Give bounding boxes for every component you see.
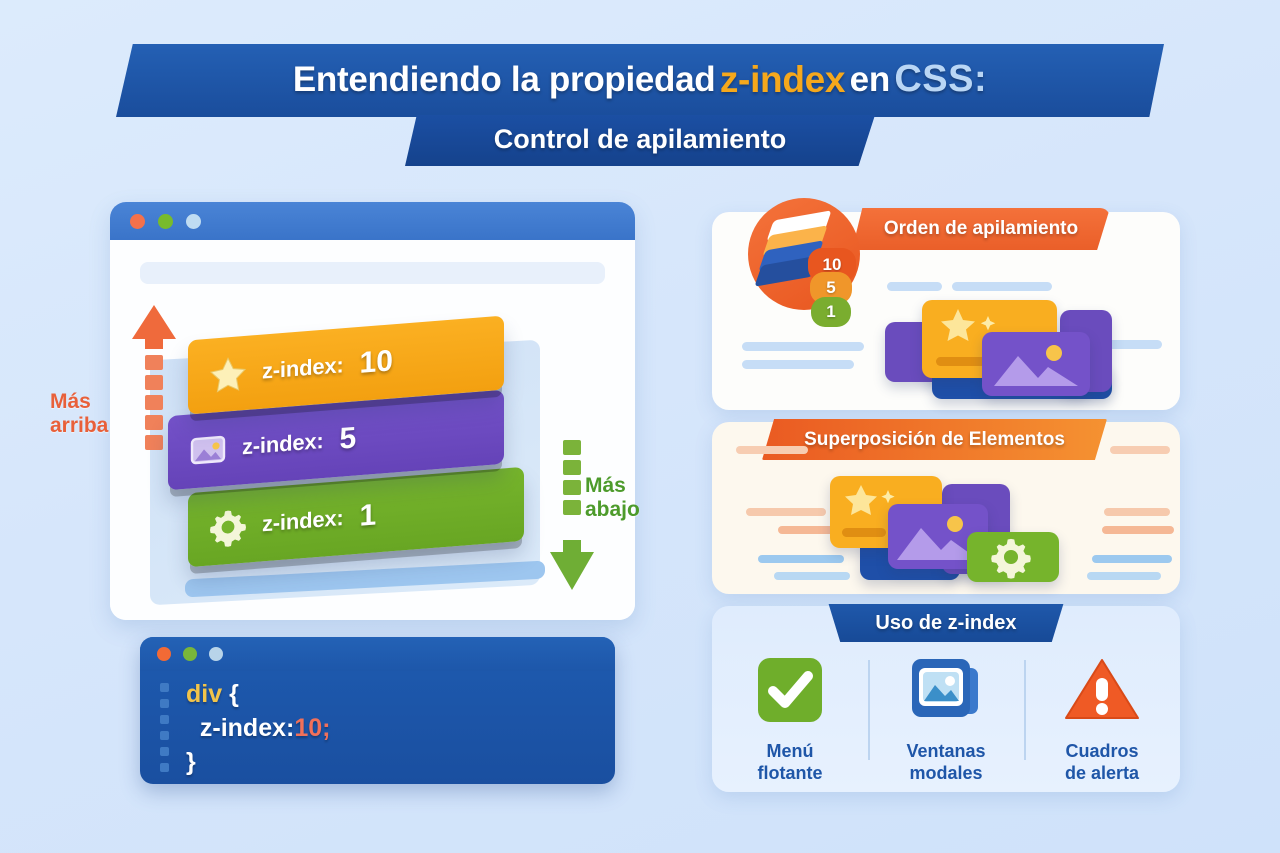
image-icon bbox=[988, 336, 1084, 392]
arrow-down-label: Más abajo bbox=[585, 474, 640, 521]
title-part1: Entendiendo la propiedad bbox=[293, 60, 716, 100]
overlap-streak-2 bbox=[1110, 446, 1170, 454]
browser-titlebar bbox=[110, 202, 635, 240]
code-close-dot[interactable] bbox=[157, 647, 171, 661]
layer-value-5: 5 bbox=[340, 421, 357, 456]
code-property: z-index: bbox=[186, 714, 294, 742]
image-window-icon bbox=[906, 654, 986, 726]
layer-label-5: z-index: bbox=[242, 428, 324, 460]
panel-stacking-order: Orden de apilamiento 10 5 1 bbox=[712, 212, 1180, 410]
usage-items: Menú flotante Ventanas modales bbox=[712, 654, 1180, 784]
title-part2: en bbox=[850, 60, 890, 100]
window-minimize-dot[interactable] bbox=[158, 214, 173, 229]
subtitle-text: Control de apilamiento bbox=[494, 124, 787, 154]
overlap-streak-9 bbox=[774, 572, 850, 580]
usage-label-modal-windows: Ventanas modales bbox=[868, 741, 1024, 784]
panel-stacking-title: Orden de apilamiento bbox=[852, 208, 1110, 250]
code-brace-close: } bbox=[186, 748, 196, 776]
usage-label-alert-boxes: Cuadros de alerta bbox=[1024, 741, 1180, 784]
overlap-card-underline bbox=[842, 528, 886, 537]
star-icon bbox=[208, 353, 248, 396]
code-line-2: z-index:10; bbox=[186, 711, 615, 745]
header: Entendiendo la propiedad z-index en CSS:… bbox=[0, 44, 1280, 166]
code-gutter bbox=[160, 683, 169, 772]
badge-1: 1 bbox=[811, 297, 851, 327]
overlap-streak-8 bbox=[1092, 555, 1172, 563]
layer-value-1: 1 bbox=[360, 498, 377, 533]
layer-label-10: z-index: bbox=[262, 352, 344, 384]
panel1-line-a bbox=[887, 282, 942, 291]
overlap-streak-10 bbox=[1087, 572, 1161, 580]
window-close-dot[interactable] bbox=[130, 214, 145, 229]
overlap-streak-4 bbox=[1104, 508, 1170, 516]
infographic-canvas: Entendiendo la propiedad z-index en CSS:… bbox=[0, 0, 1280, 853]
image-icon bbox=[188, 428, 228, 471]
panel1-line-e bbox=[1107, 340, 1162, 349]
placeholder-bar-top bbox=[140, 262, 605, 284]
overlap-streak-7 bbox=[758, 555, 844, 563]
panel-overlap: Superposición de Elementos bbox=[712, 422, 1180, 594]
code-window: div { z-index:10; } bbox=[140, 637, 615, 784]
check-icon bbox=[754, 654, 826, 726]
code-line-3: } bbox=[186, 745, 615, 779]
title-banner: Entendiendo la propiedad z-index en CSS: bbox=[116, 44, 1164, 117]
code-selector: div bbox=[186, 680, 222, 708]
gear-icon bbox=[208, 505, 248, 548]
usage-label-floating-menu: Menú flotante bbox=[712, 741, 868, 784]
usage-item-alert-boxes[interactable]: Cuadros de alerta bbox=[1024, 654, 1180, 784]
panel1-line-d bbox=[742, 360, 854, 369]
usage-item-modal-windows[interactable]: Ventanas modales bbox=[868, 654, 1024, 784]
overlap-streak-1 bbox=[736, 446, 808, 454]
code-value: 10; bbox=[294, 714, 330, 742]
overlap-streak-6 bbox=[1102, 526, 1174, 534]
gear-icon bbox=[989, 535, 1033, 579]
panel-usage: Uso de z-index Menú flotante Ve bbox=[712, 606, 1180, 792]
panel1-card-image bbox=[982, 332, 1090, 396]
code-line-1: div { bbox=[186, 677, 615, 711]
code-titlebar bbox=[140, 637, 615, 671]
panel1-line-b bbox=[952, 282, 1052, 291]
code-brace-open: { bbox=[222, 680, 239, 708]
title-highlight: z-index bbox=[720, 59, 845, 101]
code-maximize-dot[interactable] bbox=[209, 647, 223, 661]
title-part3: CSS: bbox=[894, 58, 987, 101]
usage-item-floating-menu[interactable]: Menú flotante bbox=[712, 654, 868, 784]
panel1-line-c bbox=[742, 342, 864, 351]
window-maximize-dot[interactable] bbox=[186, 214, 201, 229]
arrow-up-label: Más arriba bbox=[50, 390, 108, 437]
layer-label-1: z-index: bbox=[262, 505, 344, 537]
alert-triangle-icon bbox=[1063, 654, 1141, 726]
overlap-streak-3 bbox=[746, 508, 826, 516]
panel-overlap-title: Superposición de Elementos bbox=[762, 419, 1107, 460]
code-body[interactable]: div { z-index:10; } bbox=[140, 671, 615, 779]
overlap-card-gear bbox=[967, 532, 1059, 582]
subtitle-banner: Control de apilamiento bbox=[405, 115, 875, 166]
layer-value-10: 10 bbox=[360, 344, 393, 381]
panel-usage-title: Uso de z-index bbox=[817, 604, 1075, 642]
code-minimize-dot[interactable] bbox=[183, 647, 197, 661]
